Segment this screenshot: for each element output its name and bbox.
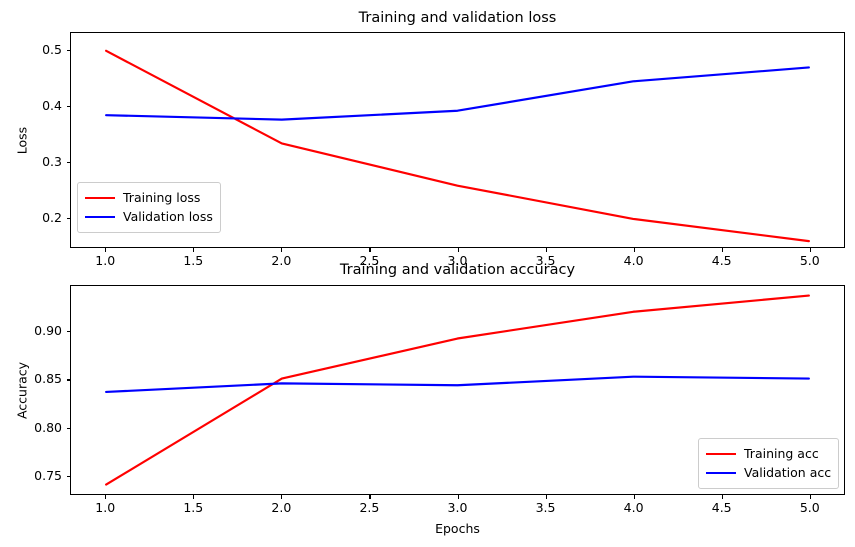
- legend-line-icon: [706, 453, 736, 455]
- y-tick-mark: [67, 379, 71, 380]
- y-tick-label: 0.2: [14, 210, 62, 225]
- x-tick-label: 5.0: [785, 500, 835, 515]
- x-tick-mark: [193, 248, 194, 252]
- x-tick-mark: [281, 248, 282, 252]
- legend-label: Validation acc: [744, 466, 831, 480]
- x-tick-mark: [546, 248, 547, 252]
- legend-item: Training acc: [706, 444, 831, 463]
- loss-legend: Training lossValidation loss: [77, 182, 221, 233]
- accuracy-chart-title: Training and validation accuracy: [70, 262, 845, 278]
- x-tick-mark: [281, 495, 282, 499]
- x-tick-mark: [722, 495, 723, 499]
- legend-line-icon: [706, 472, 736, 474]
- y-tick-mark: [67, 162, 71, 163]
- matplotlib-figure: Training and validation loss Loss 0.20.3…: [0, 0, 855, 547]
- y-tick-mark: [67, 331, 71, 332]
- y-tick-mark: [67, 218, 71, 219]
- y-tick-label: 0.90: [14, 323, 62, 338]
- x-tick-label: 2.0: [256, 500, 306, 515]
- y-tick-mark: [67, 476, 71, 477]
- x-tick-mark: [369, 495, 370, 499]
- legend-label: Validation loss: [123, 210, 213, 224]
- x-tick-mark: [546, 495, 547, 499]
- legend-line-icon: [85, 216, 115, 218]
- x-tick-mark: [634, 248, 635, 252]
- y-tick-label: 0.85: [14, 371, 62, 386]
- y-tick-label: 0.3: [14, 154, 62, 169]
- y-tick-label: 0.4: [14, 98, 62, 113]
- y-tick-label: 0.75: [14, 468, 62, 483]
- x-tick-mark: [458, 495, 459, 499]
- series-line: [106, 377, 809, 392]
- x-tick-mark: [810, 248, 811, 252]
- x-tick-label: 1.5: [168, 500, 218, 515]
- x-tick-label: 4.0: [609, 500, 659, 515]
- x-tick-mark: [369, 248, 370, 252]
- x-tick-mark: [193, 495, 194, 499]
- x-tick-label: 4.5: [697, 500, 747, 515]
- loss-chart-title: Training and validation loss: [70, 10, 845, 26]
- x-tick-mark: [722, 248, 723, 252]
- x-tick-mark: [634, 495, 635, 499]
- legend-item: Validation loss: [85, 207, 213, 226]
- x-tick-label: 1.0: [80, 500, 130, 515]
- x-tick-label: 3.0: [433, 500, 483, 515]
- legend-item: Validation acc: [706, 463, 831, 482]
- y-tick-label: 0.5: [14, 42, 62, 57]
- y-tick-mark: [67, 106, 71, 107]
- accuracy-legend: Training accValidation acc: [698, 438, 839, 489]
- series-line: [106, 67, 809, 119]
- legend-line-icon: [85, 197, 115, 199]
- x-tick-mark: [105, 495, 106, 499]
- legend-label: Training loss: [123, 191, 200, 205]
- x-tick-mark: [810, 495, 811, 499]
- x-axis-label: Epochs: [70, 521, 845, 536]
- accuracy-y-axis-label: Accuracy: [15, 351, 30, 431]
- x-tick-label: 3.5: [521, 500, 571, 515]
- legend-item: Training loss: [85, 188, 213, 207]
- y-tick-mark: [67, 428, 71, 429]
- y-tick-mark: [67, 50, 71, 51]
- legend-label: Training acc: [744, 447, 819, 461]
- x-tick-mark: [458, 248, 459, 252]
- x-tick-label: 2.5: [344, 500, 394, 515]
- y-tick-label: 0.80: [14, 420, 62, 435]
- x-tick-mark: [105, 248, 106, 252]
